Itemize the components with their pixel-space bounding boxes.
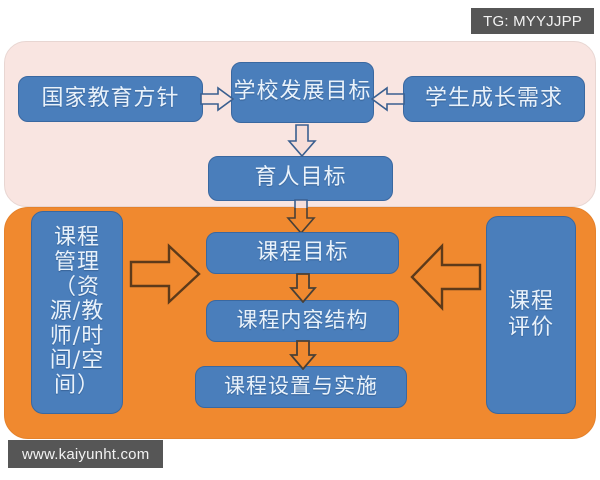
arrow-right-guideline-to-school-goal	[200, 86, 234, 112]
node-national-education-guideline: 国家教育方针	[18, 76, 203, 122]
arrow-down-school-goal-to-people-goal	[287, 124, 317, 157]
arrow-down-people-goal-to-course-goal	[285, 199, 317, 235]
node-school-development-goal: 学校发展目标	[231, 62, 374, 123]
node-course-management: 课程管理（资源/教师/时间/空间）	[31, 211, 123, 414]
node-people-cultivation-goal: 育人目标	[208, 156, 393, 201]
node-course-management-label: 课程管理（资源/教师/时间/空间）	[47, 226, 107, 398]
diagram-canvas: 国家教育方针 学校发展目标 学生成长需求 育人目标	[0, 0, 600, 480]
node-course-evaluation-label: 课程评价	[505, 289, 557, 341]
arrow-right-management-to-center	[129, 243, 201, 305]
node-course-content-structure: 课程内容结构	[206, 300, 399, 342]
arrow-left-student-needs-to-school-goal	[371, 86, 405, 112]
arrow-down-content-to-implementation	[289, 340, 317, 370]
node-course-goal: 课程目标	[206, 232, 399, 274]
arrow-down-course-goal-to-content	[289, 273, 317, 303]
site-watermark-badge: www.kaiyunht.com	[8, 440, 163, 468]
node-student-growth-needs: 学生成长需求	[403, 76, 585, 122]
arrow-left-evaluation-to-center	[410, 243, 482, 311]
telegram-watermark-badge: TG: MYYJJPP	[471, 8, 594, 34]
node-course-setup-and-implementation: 课程设置与实施	[195, 366, 407, 408]
node-course-evaluation: 课程评价	[486, 216, 576, 414]
